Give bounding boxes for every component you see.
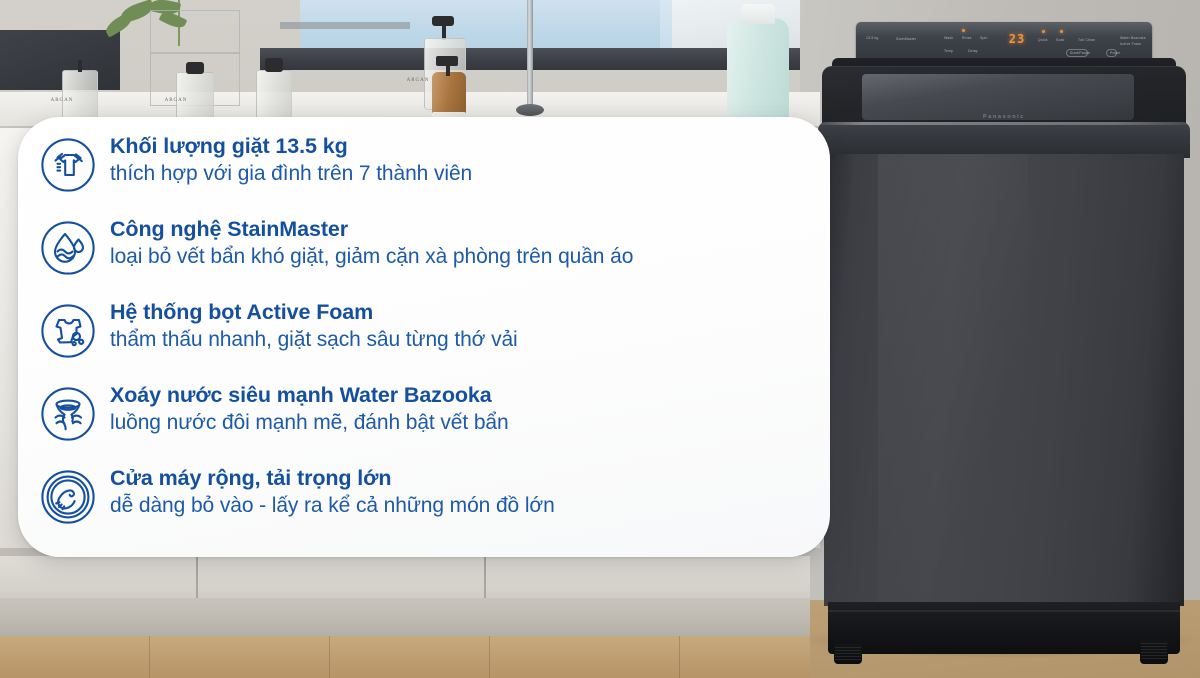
foam-shirt-icon bbox=[40, 303, 96, 359]
product-marketing-image: ARGAN ARGAN ARGAN 13.5 kg StainMaster Wa… bbox=[0, 0, 1200, 678]
brand-logo: Panasonic bbox=[983, 114, 1025, 120]
feature-title: Khối lượng giặt 13.5 kg bbox=[110, 133, 472, 159]
feature-title: Cửa máy rộng, tải trọng lớn bbox=[110, 465, 555, 491]
panel-label-delay: Delay bbox=[968, 49, 978, 53]
feature-desc: luồng nước đôi mạnh mẽ, đánh bật vết bẩn bbox=[110, 409, 509, 436]
glass-rack-shelf bbox=[150, 52, 240, 54]
window-sill bbox=[280, 22, 410, 29]
feature-title: Hệ thống bọt Active Foam bbox=[110, 299, 518, 325]
feature-desc: dễ dàng bỏ vào - lấy ra kể cả những món … bbox=[110, 492, 555, 519]
panel-label-capacity: 13.5 kg bbox=[866, 36, 879, 40]
faucet-base bbox=[516, 104, 544, 116]
bottle-label: ARGAN bbox=[44, 98, 80, 103]
cabinet-seam-2 bbox=[484, 556, 486, 602]
washing-machine: 13.5 kg StainMaster Wash Rinse Spin Temp… bbox=[818, 14, 1190, 664]
cabinet-panel-1 bbox=[0, 556, 196, 602]
cabinet-toe-kick bbox=[0, 598, 810, 638]
feature-text: Cửa máy rộng, tải trọng lớn dễ dàng bỏ v… bbox=[110, 463, 555, 520]
panel-label-quick[interactable]: Quick bbox=[1038, 38, 1048, 42]
panel-label-bazooka: Water Bazooka bbox=[1120, 36, 1146, 40]
water-droplet-icon bbox=[40, 220, 96, 276]
panel-label-stainmaster: StainMaster bbox=[896, 37, 916, 41]
feature-list: Khối lượng giặt 13.5 kg thích hợp với gi… bbox=[18, 131, 830, 546]
machine-top-highlight bbox=[818, 122, 1190, 125]
panel-label-rinse: Rinse bbox=[962, 36, 972, 40]
cabinet-panel-3 bbox=[486, 556, 810, 602]
laundry-load-icon bbox=[40, 137, 96, 193]
feature-text: Xoáy nước siêu mạnh Water Bazooka luồng … bbox=[110, 380, 509, 437]
machine-foot-left bbox=[834, 644, 862, 664]
panel-label-tubclean[interactable]: Tub Clean bbox=[1078, 38, 1095, 42]
feature-desc: thẩm thấu nhanh, giặt sạch sâu từng thớ … bbox=[110, 326, 518, 353]
feature-item: Khối lượng giặt 13.5 kg thích hợp với gi… bbox=[18, 131, 830, 214]
detergent-bottle-cap bbox=[741, 4, 775, 24]
machine-top-shell bbox=[818, 122, 1190, 158]
machine-body-sheen bbox=[878, 154, 1028, 606]
panel-label-spin: Spin bbox=[980, 36, 988, 40]
cabinet-panel-2 bbox=[198, 556, 484, 602]
feature-text: Khối lượng giặt 13.5 kg thích hợp với gi… bbox=[110, 131, 472, 188]
feature-desc: loại bỏ vết bẩn khó giặt, giảm cặn xà ph… bbox=[110, 243, 633, 270]
feature-item: Cửa máy rộng, tải trọng lớn dễ dàng bỏ v… bbox=[18, 463, 830, 546]
amber-pump-neck bbox=[446, 62, 450, 76]
panel-label-soak[interactable]: Soak bbox=[1056, 38, 1065, 42]
feature-item: Hệ thống bọt Active Foam thẩm thấu nhanh… bbox=[18, 297, 830, 380]
panel-label-activefoam: Active Foam bbox=[1120, 42, 1141, 46]
wall-dark-panel bbox=[0, 30, 120, 90]
machine-base-seam bbox=[828, 610, 1180, 612]
detergent-bottle bbox=[727, 18, 789, 128]
feature-text: Công nghệ StainMaster loại bỏ vết bẩn kh… bbox=[110, 214, 633, 271]
faucet bbox=[527, 0, 533, 108]
machine-foot-right bbox=[1140, 640, 1168, 664]
feature-desc: thích hợp với gia đình trên 7 thành viên bbox=[110, 160, 472, 187]
large-drum-icon bbox=[40, 469, 96, 525]
panel-label-wash: Wash bbox=[944, 36, 953, 40]
feature-item: Xoáy nước siêu mạnh Water Bazooka luồng … bbox=[18, 380, 830, 463]
cabinet-seam-1 bbox=[196, 556, 198, 602]
panel-label-temp: Temp bbox=[944, 49, 953, 53]
feature-title: Xoáy nước siêu mạnh Water Bazooka bbox=[110, 382, 509, 408]
bottle-label: ARGAN bbox=[157, 98, 195, 103]
feature-text: Hệ thống bọt Active Foam thẩm thấu nhanh… bbox=[110, 297, 518, 354]
start-pause-button[interactable] bbox=[1066, 49, 1088, 57]
feature-item: Công nghệ StainMaster loại bỏ vết bẩn kh… bbox=[18, 214, 830, 297]
feature-highlight-card: Khối lượng giặt 13.5 kg thích hợp với gi… bbox=[18, 117, 830, 557]
feature-title: Công nghệ StainMaster bbox=[110, 216, 633, 242]
led-display: 23 bbox=[1004, 32, 1030, 46]
power-button[interactable] bbox=[1106, 49, 1117, 57]
water-vortex-icon bbox=[40, 386, 96, 442]
